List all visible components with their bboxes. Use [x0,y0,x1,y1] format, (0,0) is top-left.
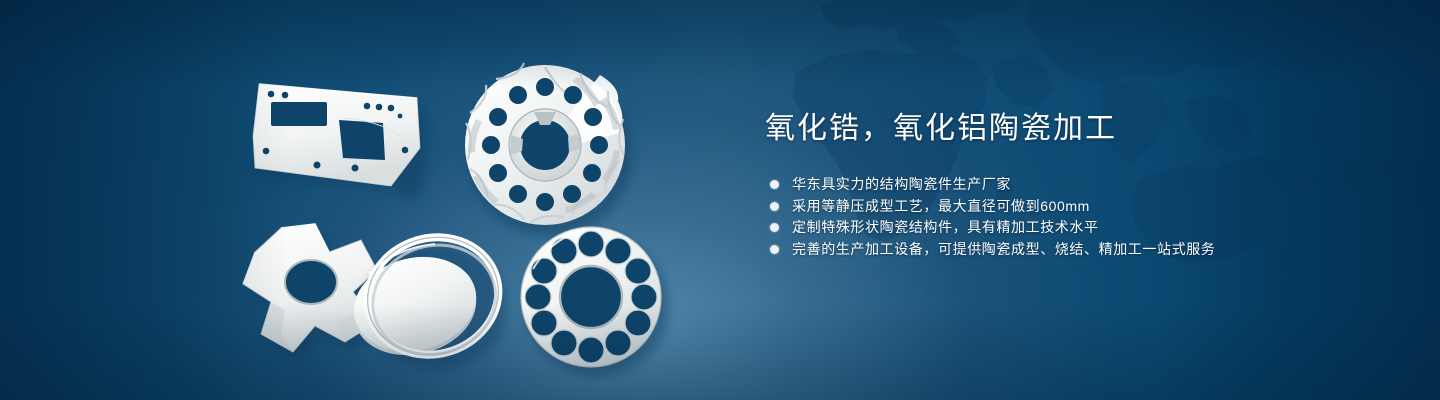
bullet-dot-icon [770,245,779,254]
list-item: 定制特殊形状陶瓷结构件，具有精加工技术水平 [770,217,1385,239]
feature-list: 华东具实力的结构陶瓷件生产厂家 采用等静压成型工艺，最大直径可做到600mm 定… [770,174,1385,260]
feature-text: 华东具实力的结构陶瓷件生产厂家 [792,174,1011,195]
list-item: 采用等静压成型工艺，最大直径可做到600mm [770,196,1385,218]
product-photo-cluster [215,40,715,380]
list-item: 完善的生产加工设备，可提供陶瓷成型、烧结、精加工一站式服务 [770,239,1385,261]
ceramic-perforated-disc-photo [521,227,669,376]
ceramic-ring-photo [344,221,513,371]
banner-copy: 氧化锆，氧化铝陶瓷加工 华东具实力的结构陶瓷件生产厂家 采用等静压成型工艺，最大… [765,108,1385,260]
ceramic-plate-photo [253,84,427,198]
list-item: 华东具实力的结构陶瓷件生产厂家 [770,174,1385,196]
feature-text: 采用等静压成型工艺，最大直径可做到600mm [792,196,1090,217]
hero-banner: 氧化锆，氧化铝陶瓷加工 华东具实力的结构陶瓷件生产厂家 采用等静压成型工艺，最大… [0,0,1440,400]
banner-headline: 氧化锆，氧化铝陶瓷加工 [765,108,1385,150]
feature-text: 定制特殊形状陶瓷结构件，具有精加工技术水平 [792,217,1099,238]
bullet-dot-icon [770,202,779,211]
ceramic-impeller-photo [465,63,632,236]
bullet-dot-icon [770,180,779,189]
feature-text: 完善的生产加工设备，可提供陶瓷成型、烧结、精加工一站式服务 [792,239,1215,260]
bullet-dot-icon [770,223,779,232]
